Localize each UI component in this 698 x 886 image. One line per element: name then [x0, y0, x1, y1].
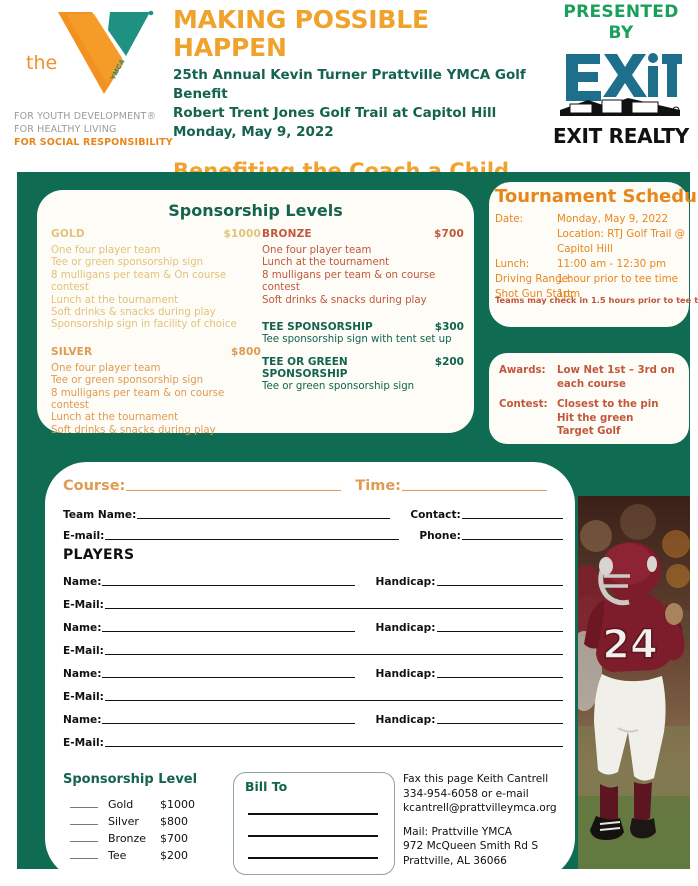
level-tee-sponsorship: TEE SPONSORSHIP $300 Tee sponsorship sig…: [262, 321, 464, 346]
awards-card: Awards: Low Net 1st – 3rd on each course…: [489, 353, 689, 444]
sponsorship-option-amount: $700: [160, 832, 188, 845]
level-gold-benefits: One four player team Tee or green sponso…: [51, 245, 261, 332]
schedule-value: 11:00 am - 12:30 pm: [557, 257, 666, 272]
team-name-row: Team Name: Contact:: [63, 500, 563, 521]
sponsorship-levels-title: Sponsorship Levels: [37, 190, 474, 220]
contest-item: Closest to the pin: [557, 398, 658, 412]
player-name-label: Name:: [63, 668, 101, 680]
sponsorship-option-checkbox[interactable]: [70, 858, 98, 859]
player-handicap-input[interactable]: [437, 631, 563, 632]
benefit-item: 8 mulligans per team & on course contest: [51, 388, 261, 413]
level-tee-or-green: TEE OR GREEN SPONSORSHIP $200 Tee or gre…: [262, 356, 464, 393]
email-line: kcantrell@prattvilleymca.org: [403, 801, 573, 816]
schedule-row-date: Date: Monday, May 9, 2022: [495, 212, 698, 227]
schedule-check-in-note: Teams may check in 1.5 hours prior to te…: [495, 295, 698, 305]
player-name-input[interactable]: [102, 723, 355, 724]
schedule-row-driving-range: Driving Range: 1 hour prior to tee time: [495, 272, 698, 287]
sponsorship-level-options: Gold$1000Silver$800Bronze$700Tee$200: [63, 794, 233, 862]
ymca-logo: the YMCA: [12, 4, 162, 114]
player-name-row: Name:Handicap:: [63, 657, 563, 680]
benefit-item: Lunch at the tournament: [262, 257, 464, 269]
player-email-row: E-Mail:: [63, 680, 563, 703]
player-name-label: Name:: [63, 576, 101, 588]
schedule-key: Date:: [495, 212, 557, 227]
player-name-input[interactable]: [102, 631, 355, 632]
level-silver-benefits: One four player team Tee or green sponso…: [51, 363, 261, 437]
bill-to-line-3[interactable]: [248, 857, 378, 859]
tournament-schedule-title: Tournament Schedule: [495, 186, 698, 207]
player-handicap-input[interactable]: [437, 585, 563, 586]
mail-line-3: Prattville, AL 36066: [403, 854, 573, 869]
level-silver-price: $800: [231, 346, 261, 358]
level-silver-name: SILVER: [51, 346, 92, 358]
benefit-item: Soft drinks & snacks during play: [51, 307, 261, 319]
benefit-item: One four player team: [51, 363, 261, 375]
contact-input[interactable]: [462, 518, 563, 519]
player-name-row: Name:Handicap:: [63, 611, 563, 634]
sponsorship-option-row[interactable]: Bronze$700: [63, 828, 233, 845]
player-handicap-label: Handicap:: [375, 576, 435, 588]
contest-row-3: Target Golf: [499, 425, 675, 439]
tagline-youth-development: FOR YOUTH DEVELOPMENT®: [14, 110, 173, 123]
email-input[interactable]: [105, 539, 399, 540]
level-bronze-name: BRONZE: [262, 228, 312, 240]
tagline-social-responsibility: FOR SOCIAL RESPONSIBILITY: [14, 136, 173, 149]
sponsorship-option-name: Silver: [108, 815, 160, 828]
contest-row-2: Hit the green: [499, 412, 675, 426]
sponsorship-option-amount: $1000: [160, 798, 195, 811]
awards-row-2: each course: [499, 378, 675, 392]
benefit-item: Tee or green sponsorship sign: [51, 375, 261, 387]
sponsorship-option-name: Bronze: [108, 832, 160, 845]
phone-input[interactable]: [462, 539, 563, 540]
sponsorship-option-row[interactable]: Gold$1000: [63, 794, 233, 811]
players-container: Name:Handicap:E-Mail:Name:Handicap:E-Mai…: [63, 565, 563, 749]
ymca-y-mark-icon: [52, 6, 156, 112]
sponsorship-level-selector: Sponsorship Level Gold$1000Silver$800Bro…: [63, 772, 233, 875]
football-player-photo: 24: [578, 496, 690, 869]
email-label: E-mail:: [63, 530, 104, 542]
level-bronze-price: $700: [434, 228, 464, 240]
benefit-item: Lunch at the tournament: [51, 412, 261, 424]
player-email-label: E-Mail:: [63, 691, 104, 703]
tee-or-green-detail: Tee or green sponsorship sign: [262, 381, 464, 393]
event-date: Monday, May 9, 2022: [173, 123, 533, 142]
presented-label: PRESENTED: [548, 2, 694, 23]
player-email-row: E-Mail:: [63, 588, 563, 611]
contest-item: Target Golf: [557, 425, 620, 439]
bill-to-line-2[interactable]: [248, 835, 378, 837]
player-name-label: Name:: [63, 714, 101, 726]
phone-label: Phone:: [419, 530, 461, 542]
sponsorship-option-amount: $800: [160, 815, 188, 828]
schedule-rows: Date: Monday, May 9, 2022 Location: RTJ …: [495, 212, 698, 302]
level-gold: GOLD $1000 One four player team Tee or g…: [51, 228, 261, 332]
contact-info-block: Fax this page Keith Cantrell 334-954-605…: [403, 772, 573, 875]
sponsorship-option-row[interactable]: Silver$800: [63, 811, 233, 828]
exit-logo-icon: [548, 48, 694, 126]
bill-to-section: Bill To: [233, 772, 403, 875]
player-email-row: E-Mail:: [63, 634, 563, 657]
player-email-input[interactable]: [105, 654, 563, 655]
schedule-key: Lunch:: [495, 257, 557, 272]
benefit-item: Soft drinks & snacks during play: [51, 425, 261, 437]
sponsorship-option-checkbox[interactable]: [70, 807, 98, 808]
exit-realty-block: PRESENTED BY: [548, 2, 694, 148]
player-handicap-label: Handicap:: [375, 714, 435, 726]
player-email-input[interactable]: [105, 700, 563, 701]
awards-label: Awards:: [499, 364, 557, 378]
sponsorship-left-column: GOLD $1000 One four player team Tee or g…: [51, 228, 261, 437]
benefit-item: 8 mulligans per team & on course: [262, 270, 464, 282]
player-email-label: E-Mail:: [63, 599, 104, 611]
player-email-label: E-Mail:: [63, 737, 104, 749]
benefit-item: 8 mulligans per team & On course contest: [51, 270, 261, 295]
tee-or-green-price: $200: [435, 356, 464, 380]
players-heading: PLAYERS: [63, 547, 563, 563]
player-handicap-label: Handicap:: [375, 622, 435, 634]
sponsorship-option-checkbox[interactable]: [70, 841, 98, 842]
contest-label: Contest:: [499, 398, 557, 412]
bill-to-box[interactable]: Bill To: [233, 772, 395, 875]
form-bottom-row: Sponsorship Level Gold$1000Silver$800Bro…: [63, 772, 573, 875]
benefit-item: contest: [262, 282, 464, 294]
schedule-value: Monday, May 9, 2022: [557, 212, 668, 227]
tee-sponsorship-name: TEE SPONSORSHIP: [262, 321, 373, 333]
bill-to-line-1[interactable]: [248, 813, 378, 815]
form-inner: Course: Time: Team Name: Contact: E-mail…: [63, 470, 563, 749]
benefit-item: One four player team: [51, 245, 261, 257]
phone-line: 334-954-6058 or e-mail: [403, 787, 573, 802]
player-name-row: Name:Handicap:: [63, 565, 563, 588]
time-label: Time:: [355, 478, 401, 494]
mail-line-2: 972 McQueen Smith Rd S: [403, 839, 573, 854]
benefit-item: One four player team: [262, 245, 464, 257]
level-gold-price: $1000: [223, 228, 261, 240]
player-email-input[interactable]: [105, 746, 563, 747]
awards-value-1: Low Net 1st – 3rd on: [557, 364, 675, 378]
player-email-input[interactable]: [105, 608, 563, 609]
headline: MAKING POSSIBLE HAPPEN: [173, 6, 533, 62]
event-title: 25th Annual Kevin Turner Prattville YMCA…: [173, 66, 533, 104]
sponsorship-option-name: Gold: [108, 798, 160, 811]
player-handicap-label: Handicap:: [375, 668, 435, 680]
benefit-item: Soft drinks & snacks during play: [262, 295, 464, 307]
team-name-label: Team Name:: [63, 509, 136, 521]
player-email-row: E-Mail:: [63, 726, 563, 749]
flyer-header: the YMCA FOR YOUTH DEVELOPMENT® FOR HEAL…: [0, 0, 698, 172]
bill-to-title: Bill To: [245, 779, 287, 794]
sponsorship-option-amount: $200: [160, 849, 188, 862]
benefit-item: Lunch at the tournament: [51, 295, 261, 307]
tee-sponsorship-detail: Tee sponsorship sign with tent set up: [262, 334, 464, 346]
tee-or-green-name: TEE OR GREEN SPONSORSHIP: [262, 356, 435, 380]
sponsorship-option-checkbox[interactable]: [70, 824, 98, 825]
sponsorship-option-row[interactable]: Tee$200: [63, 845, 233, 862]
benefit-item: Tee or green sponsorship sign: [51, 257, 261, 269]
team-name-input[interactable]: [137, 518, 390, 519]
email-row: E-mail: Phone:: [63, 521, 563, 542]
course-label: Course:: [63, 478, 125, 494]
mail-line-1: Mail: Prattville YMCA: [403, 825, 573, 840]
schedule-location: Location: RTJ Golf Trail @ Capitol Hill: [495, 227, 698, 257]
benefit-item: Sponsorship sign in facility of choice: [51, 319, 261, 331]
contest-item: Hit the green: [557, 412, 633, 426]
player-name-input[interactable]: [102, 677, 355, 678]
level-bronze-benefits: One four player team Lunch at the tourna…: [262, 245, 464, 307]
level-silver: SILVER $800 One four player team Tee or …: [51, 346, 261, 437]
fax-line: Fax this page Keith Cantrell: [403, 772, 573, 787]
exit-realty-name: EXIT REALTY: [548, 124, 694, 148]
course-time-row: Course: Time:: [63, 470, 563, 494]
schedule-key: Driving Range:: [495, 272, 557, 287]
time-input[interactable]: [402, 490, 547, 491]
event-venue: Robert Trent Jones Golf Trail at Capitol…: [173, 104, 533, 123]
awards-rows: Awards: Low Net 1st – 3rd on each course…: [499, 364, 675, 439]
by-label: BY: [548, 23, 694, 44]
player-name-input[interactable]: [102, 585, 355, 586]
sponsorship-option-name: Tee: [108, 849, 160, 862]
schedule-value: 1 hour prior to tee time: [557, 272, 678, 287]
contact-label: Contact:: [410, 509, 460, 521]
level-gold-name: GOLD: [51, 228, 85, 240]
player-email-label: E-Mail:: [63, 645, 104, 657]
awards-value-2: each course: [557, 378, 626, 392]
player-handicap-input[interactable]: [437, 723, 563, 724]
awards-row: Awards: Low Net 1st – 3rd on: [499, 364, 675, 378]
player-handicap-input[interactable]: [437, 677, 563, 678]
sponsorship-level-title: Sponsorship Level: [63, 772, 233, 787]
course-input[interactable]: [126, 490, 341, 491]
ymca-taglines: FOR YOUTH DEVELOPMENT® FOR HEALTHY LIVIN…: [14, 110, 173, 149]
tee-sponsorship-price: $300: [435, 321, 464, 333]
contest-row: Contest: Closest to the pin: [499, 398, 675, 412]
sponsorship-levels-card: Sponsorship Levels GOLD $1000 One four p…: [37, 190, 474, 433]
registration-form-card: Course: Time: Team Name: Contact: E-mail…: [45, 462, 575, 880]
player-name-row: Name:Handicap:: [63, 703, 563, 726]
level-bronze: BRONZE $700 One four player team Lunch a…: [262, 228, 464, 307]
sponsorship-right-column: BRONZE $700 One four player team Lunch a…: [262, 228, 464, 394]
player-name-label: Name:: [63, 622, 101, 634]
svg-text:24: 24: [602, 622, 658, 668]
flyer-page: the YMCA FOR YOUTH DEVELOPMENT® FOR HEAL…: [0, 0, 698, 886]
tagline-healthy-living: FOR HEALTHY LIVING: [14, 123, 173, 136]
schedule-row-lunch: Lunch: 11:00 am - 12:30 pm: [495, 257, 698, 272]
